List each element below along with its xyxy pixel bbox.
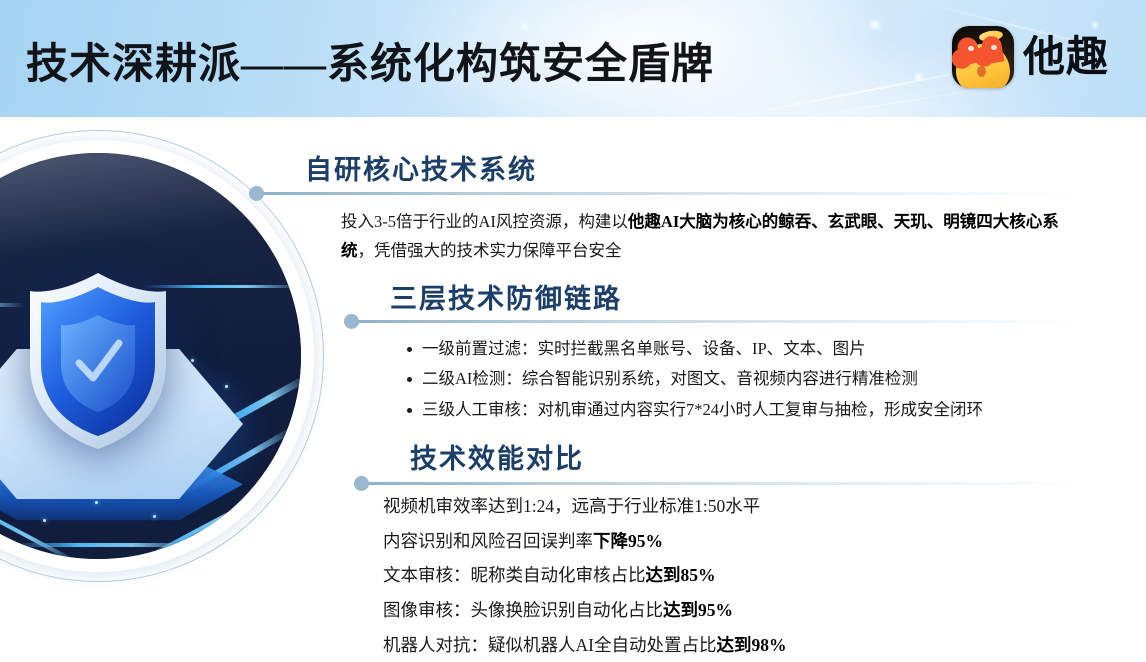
light-dot: [153, 515, 156, 518]
divider-performance: [367, 482, 1090, 485]
light-dot: [95, 501, 98, 504]
defense-chain-list: 一级前置过滤：实时拦截黑名单账号、设备、IP、文本、图片 二级AI检测：综合智能…: [400, 334, 983, 425]
metric-value: 达到95%: [663, 600, 733, 620]
section-title-core-tech: 自研核心技术系统: [305, 148, 537, 187]
page-title: 技术深耕派——系统化构筑安全盾牌: [26, 30, 714, 91]
divider-defense-chain: [357, 320, 1090, 323]
metric-value: 达到85%: [646, 565, 716, 585]
metric-row: 图像审核：头像换脸识别自动化占比达到95%: [383, 593, 786, 628]
sparkle-dot: [868, 18, 882, 32]
shield-icon: [23, 271, 173, 451]
divider-core-tech: [262, 192, 1090, 195]
list-item: 三级人工审核：对机审通过内容实行7*24小时人工复审与抽检，形成安全闭环: [422, 395, 983, 425]
connector-dot-performance: [354, 476, 369, 491]
circuit-trace: [0, 303, 25, 307]
metric-row: 视频机审效率达到1:24，远高于行业标准1:50水平: [383, 489, 786, 524]
paragraph-part-1: 投入3-5倍于行业的AI风控资源，构建以: [341, 212, 628, 231]
hero-image: [0, 140, 314, 572]
light-dot: [225, 385, 228, 388]
metric-text: 图像审核：头像换脸识别自动化占比: [383, 600, 663, 620]
metric-row: 文本审核：昵称类自动化审核占比达到85%: [383, 558, 786, 593]
connector-dot-core-tech: [249, 186, 264, 201]
metric-row: 内容识别和风险召回误判率下降95%: [383, 524, 786, 559]
sparkle-dot: [913, 72, 924, 83]
list-item: 一级前置过滤：实时拦截黑名单账号、设备、IP、文本、图片: [422, 334, 983, 364]
heart-highlight: [991, 45, 997, 50]
light-dot: [191, 359, 194, 362]
section-title-performance: 技术效能对比: [410, 437, 584, 476]
brand-name: 他趣: [1023, 36, 1109, 78]
metric-text: 视频机审效率达到1:24，远高于行业标准1:50水平: [383, 496, 760, 516]
performance-metric-list: 视频机审效率达到1:24，远高于行业标准1:50水平 内容识别和风险召回误判率下…: [383, 489, 786, 662]
brand-logo: 他趣: [952, 26, 1109, 88]
circuit-trace: [15, 543, 195, 547]
header-banner: 技术深耕派——系统化构筑安全盾牌 他趣: [0, 0, 1146, 117]
emoji-mouth: [977, 66, 986, 77]
metric-value: 下降95%: [593, 531, 663, 551]
section-title-defense-chain: 三层技术防御链路: [390, 277, 622, 316]
paragraph-part-2: ，凭借强大的技术实力保障平台安全: [358, 241, 622, 260]
circuit-board-photo: [0, 153, 301, 559]
light-dot: [43, 519, 46, 522]
connector-dot-defense-chain: [344, 314, 359, 329]
list-item: 二级AI检测：综合智能识别系统，对图文、音视频内容进行精准检测: [422, 364, 983, 394]
heart-highlight: [968, 46, 974, 51]
metric-text: 文本审核：昵称类自动化审核占比: [383, 565, 646, 585]
metric-text: 内容识别和风险召回误判率: [383, 531, 593, 551]
heart-eyes-emoji-icon: [952, 26, 1014, 88]
core-tech-paragraph: 投入3-5倍于行业的AI风控资源，构建以他趣AI大脑为核心的鲸吞、玄武眼、天玑、…: [341, 207, 1081, 266]
